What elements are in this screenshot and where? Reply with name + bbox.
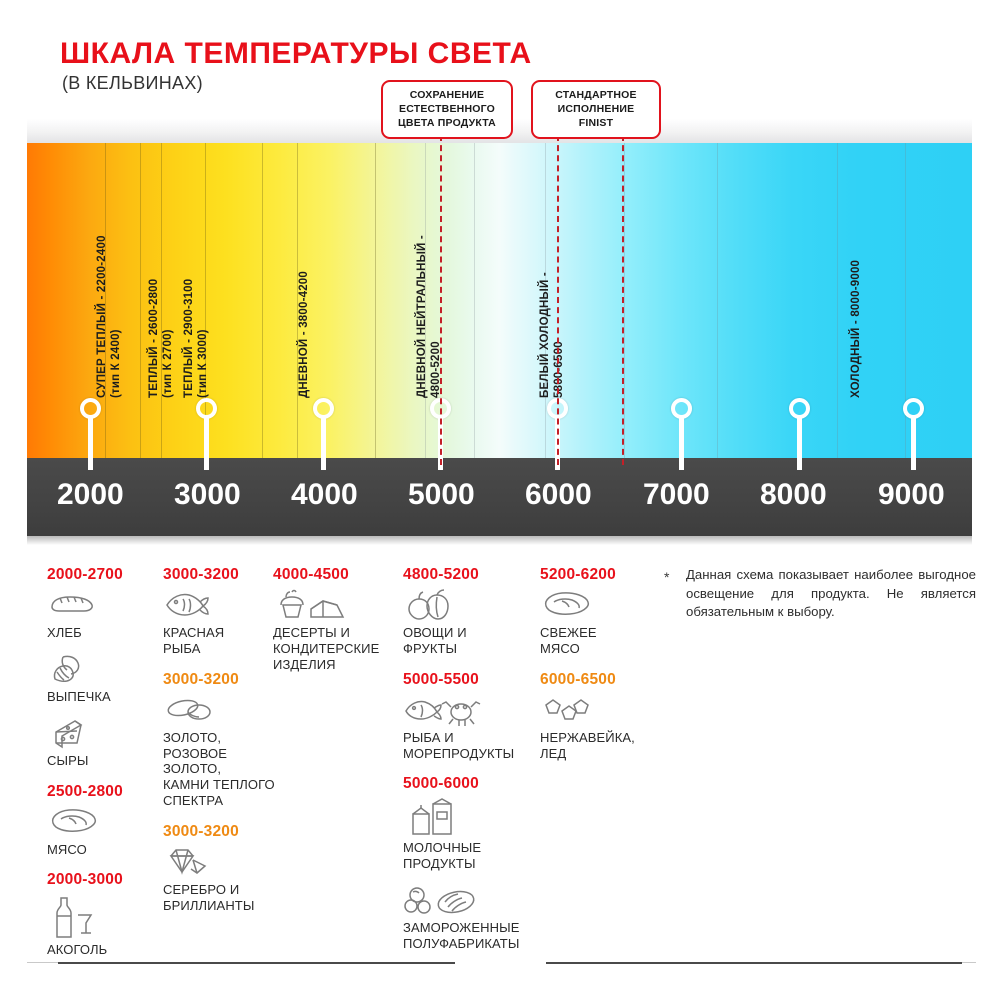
color-temperature-gradient-bar: [27, 143, 972, 458]
legend-item: МЯСО: [47, 806, 159, 858]
scale-label-line1: ДНЕВНОЙ - 3800-4200: [298, 271, 310, 398]
legend-block: 6000-6500 НЕРЖАВЕЙКА, ЛЕД: [540, 671, 658, 762]
gradient-separator: [375, 143, 376, 458]
legend-range: 3000-3200: [163, 823, 285, 841]
legend-caption: ЗОЛОТО, РОЗОВОЕ ЗОЛОТО, КАМНИ ТЕПЛОГО СП…: [163, 730, 285, 809]
scale-pin-7000: [671, 398, 692, 470]
legend-item: КРАСНАЯ РЫБА: [163, 589, 285, 657]
gradient-separator: [837, 143, 838, 458]
legend-caption: МОЛОЧНЫЕ ПРОДУКТЫ: [403, 840, 539, 872]
footnote: * Данная схема показывает наиболее выгод…: [664, 566, 976, 622]
legend-caption: НЕРЖАВЕЙКА, ЛЕД: [540, 730, 658, 762]
axis-tick-2000: 2000: [57, 478, 124, 512]
bottom-rule-left: [58, 962, 455, 964]
legend-caption: АКОГОЛЬ: [47, 942, 159, 958]
axis-tick-5000: 5000: [408, 478, 475, 512]
legend-range: 2500-2800: [47, 783, 159, 801]
connector-line-standard-a: [557, 135, 559, 465]
callout-natural-color: СОХРАНЕНИЕ ЕСТЕСТВЕННОГО ЦВЕТА ПРОДУКТА: [381, 80, 513, 139]
legend-block: 5000-6000 МОЛОЧНЫЕ ПРОДУКТЫ: [403, 775, 539, 951]
legend-item: ЗОЛОТО, РОЗОВОЕ ЗОЛОТО, КАМНИ ТЕПЛОГО СП…: [163, 694, 285, 809]
legend-range: 5000-5500: [403, 671, 539, 689]
gradient-separator: [624, 143, 625, 458]
axis-tick-8000: 8000: [760, 478, 827, 512]
legend-caption: ВЫПЕЧКА: [47, 689, 159, 705]
fish-crab-icon: [403, 694, 539, 728]
legend-range: 2000-2700: [47, 566, 159, 584]
scale-bar-shadow: [27, 536, 972, 545]
legend-block: 2000-3000 АКОГОЛЬ: [47, 871, 159, 958]
scale-label-line1: СУПЕР ТЕПЛЫЙ - 2200-2400: [96, 235, 108, 398]
legend-caption: ЗАМОРОЖЕННЫЕ ПОЛУФАБРИКАТЫ: [403, 920, 539, 952]
scale-label-line2: (тип К 2400): [110, 329, 122, 398]
legend-range: 4000-4500: [273, 566, 397, 584]
steak-icon: [47, 806, 159, 840]
legend-block: 5200-6200 СВЕЖЕЕ МЯСО: [540, 566, 658, 657]
legend-item: СВЕЖЕЕ МЯСО: [540, 589, 658, 657]
scale-label-line1: ТЕПЛЫЙ - 2600-2800: [148, 279, 160, 398]
scale-label-line1: ДНЕВНОЙ НЕЙТРАЛЬНЫЙ -: [416, 235, 428, 398]
legend-block: 3000-3200 КРАСНАЯ РЫБА: [163, 566, 285, 657]
legend-item: СЫРЫ: [47, 717, 159, 769]
legend-block: 2500-2800 МЯСО: [47, 783, 159, 858]
footnote-text: Данная схема показывает наиболее выгодно…: [686, 566, 976, 622]
legend-caption: КРАСНАЯ РЫБА: [163, 625, 285, 657]
axis-tick-9000: 9000: [878, 478, 945, 512]
legend-block: 5000-5500 РЫБА И МОРЕПРОДУКТЫ: [403, 671, 539, 762]
legend-column-3: 4000-4500 ДЕСЕРТЫ И КОНДИТЕРСКИЕ ИЗДЕЛИЯ: [273, 566, 397, 687]
axis-tick-4000: 4000: [291, 478, 358, 512]
axis-tick-6000: 6000: [525, 478, 592, 512]
page-subtitle: (В КЕЛЬВИНАХ): [62, 73, 203, 94]
legend-column-2: 3000-3200 КРАСНАЯ РЫБА 3000-3200: [163, 566, 285, 928]
gradient-separator: [717, 143, 718, 458]
callout-line: ИСПОЛНЕНИЕ: [539, 103, 653, 117]
legend-caption: ОВОЩИ И ФРУКТЫ: [403, 625, 539, 657]
scale-pin-8000: [789, 398, 810, 470]
callout-line: ЦВЕТА ПРОДУКТА: [389, 117, 505, 131]
legend-range: 6000-6500: [540, 671, 658, 689]
gradient-separator: [140, 143, 141, 458]
callout-line: FINIST: [539, 117, 653, 131]
legend-caption: СЫРЫ: [47, 753, 159, 769]
rings-icon: [163, 694, 285, 728]
legend-caption: МЯСО: [47, 842, 159, 858]
legend-item: ДЕСЕРТЫ И КОНДИТЕРСКИЕ ИЗДЕЛИЯ: [273, 589, 397, 673]
scale-pin-9000: [903, 398, 924, 470]
legend-caption: СЕРЕБРО И БРИЛЛИАНТЫ: [163, 882, 285, 914]
infographic-root: ШКАЛА ТЕМПЕРАТУРЫ СВЕТА (В КЕЛЬВИНАХ) СУ…: [0, 0, 1000, 1000]
callout-line: СОХРАНЕНИЕ: [389, 89, 505, 103]
milk-carton-icon: [403, 798, 539, 838]
croissant-icon: [47, 653, 159, 687]
bottom-rule-edge-left: [27, 962, 58, 963]
scale-pin-4000: [313, 398, 334, 470]
legend-item: РЫБА И МОРЕПРОДУКТЫ: [403, 694, 539, 762]
bottom-rule-right: [546, 962, 962, 964]
axis-scale-bar: [27, 458, 972, 536]
legend-block: 3000-3200 ЗОЛОТО, РОЗОВОЕ ЗОЛОТО, КАМНИ …: [163, 671, 285, 809]
legend-range: 3000-3200: [163, 566, 285, 584]
gradient-separator: [474, 143, 475, 458]
legend-column-5: 5200-6200 СВЕЖЕЕ МЯСО 6000-6500: [540, 566, 658, 775]
legend-item: ВЫПЕЧКА: [47, 653, 159, 705]
legend-caption: РЫБА И МОРЕПРОДУКТЫ: [403, 730, 539, 762]
steak-icon: [540, 589, 658, 623]
legend-block: 4800-5200 ОВОЩИ И ФРУКТЫ: [403, 566, 539, 657]
scale-label-line2: (тип К 2700): [162, 329, 174, 398]
legend-column-1: 2000-2700 ХЛЕБ ВЫПЕЧКА: [47, 566, 159, 972]
legend-block: 2000-2700 ХЛЕБ ВЫПЕЧКА: [47, 566, 159, 769]
legend-caption: ХЛЕБ: [47, 625, 159, 641]
bottom-rule-edge-right: [962, 962, 976, 963]
frozen-food-icon: [403, 884, 539, 918]
legend-item: ЗАМОРОЖЕННЫЕ ПОЛУФАБРИКАТЫ: [403, 884, 539, 952]
legend-range: 5200-6200: [540, 566, 658, 584]
legend-item: АКОГОЛЬ: [47, 894, 159, 958]
legend-range: 4800-5200: [403, 566, 539, 584]
fish-icon: [163, 589, 285, 623]
cheese-icon: [47, 717, 159, 751]
scale-label-line2: 5800-6500: [553, 341, 565, 398]
scale-label-line1: ХОЛОДНЫЙ - 8000-9000: [850, 260, 862, 398]
scale-label-line1: БЕЛЫЙ ХОЛОДНЫЙ -: [539, 272, 551, 398]
legend-block: 3000-3200 СЕРЕБРО И БРИЛЛИАНТЫ: [163, 823, 285, 914]
scale-pin-3000: [196, 398, 217, 470]
bottle-glass-icon: [47, 894, 159, 940]
connector-line-standard-b: [622, 135, 624, 465]
ice-cubes-icon: [540, 694, 658, 728]
legend-block: 4000-4500 ДЕСЕРТЫ И КОНДИТЕРСКИЕ ИЗДЕЛИЯ: [273, 566, 397, 673]
scale-label-line1: ТЕПЛЫЙ - 2900-3100: [183, 279, 195, 398]
callout-line: ЕСТЕСТВЕННОГО: [389, 103, 505, 117]
footnote-marker: *: [664, 569, 669, 585]
legend-caption: СВЕЖЕЕ МЯСО: [540, 625, 658, 657]
axis-tick-3000: 3000: [174, 478, 241, 512]
legend-item: МОЛОЧНЫЕ ПРОДУКТЫ: [403, 798, 539, 872]
bread-icon: [47, 589, 159, 623]
legend-item: НЕРЖАВЕЙКА, ЛЕД: [540, 694, 658, 762]
legend-range: 5000-6000: [403, 775, 539, 793]
scale-label-line2: (тип К 3000): [197, 329, 209, 398]
axis-tick-7000: 7000: [643, 478, 710, 512]
scale-pin-2000: [80, 398, 101, 470]
legend-range: 2000-3000: [47, 871, 159, 889]
diamond-icon: [163, 846, 285, 880]
fruit-icon: [403, 589, 539, 623]
legend-item: ОВОЩИ И ФРУКТЫ: [403, 589, 539, 657]
legend-item: ХЛЕБ: [47, 589, 159, 641]
page-title: ШКАЛА ТЕМПЕРАТУРЫ СВЕТА: [60, 37, 532, 71]
callout-line: СТАНДАРТНОЕ: [539, 89, 653, 103]
callout-standard-finist: СТАНДАРТНОЕ ИСПОЛНЕНИЕ FINIST: [531, 80, 661, 139]
legend-column-4: 4800-5200 ОВОЩИ И ФРУКТЫ 5000-5500: [403, 566, 539, 966]
legend-item: СЕРЕБРО И БРИЛЛИАНТЫ: [163, 846, 285, 914]
gradient-separator: [161, 143, 162, 458]
connector-line-natural: [440, 135, 442, 465]
cupcake-cake-icon: [273, 589, 397, 623]
legend-caption: ДЕСЕРТЫ И КОНДИТЕРСКИЕ ИЗДЕЛИЯ: [273, 625, 397, 673]
gradient-separator: [262, 143, 263, 458]
legend-range: 3000-3200: [163, 671, 285, 689]
